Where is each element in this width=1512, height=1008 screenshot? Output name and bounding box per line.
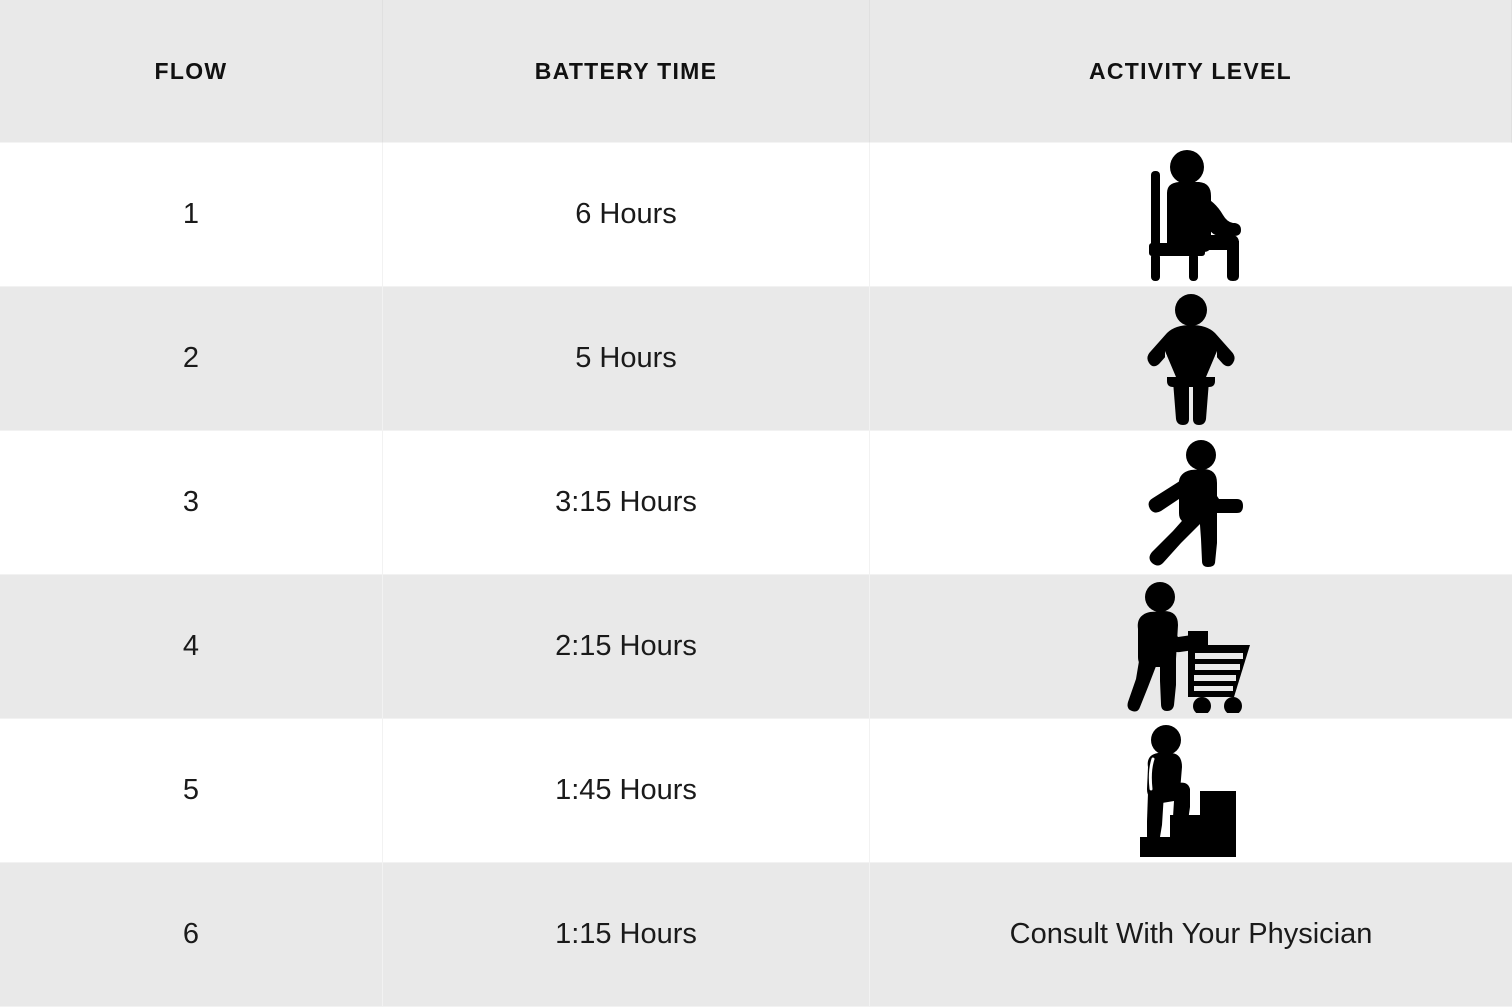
cell-battery-time: 1:15 Hours (383, 863, 870, 1007)
person-sitting-on-chair-icon (1126, 149, 1256, 281)
flow-value: 3 (183, 486, 199, 519)
cell-flow: 6 (0, 863, 383, 1007)
battery-time-value: 2:15 Hours (555, 630, 697, 663)
battery-time-value: 6 Hours (575, 198, 677, 231)
cell-flow: 2 (0, 287, 383, 431)
battery-time-value: 1:15 Hours (555, 918, 697, 951)
person-pushing-shopping-cart-icon (1126, 581, 1256, 713)
battery-time-value: 5 Hours (575, 342, 677, 375)
table-row: 2 5 Hours (0, 287, 1512, 431)
cell-activity-level (870, 575, 1512, 719)
cell-battery-time: 1:45 Hours (383, 719, 870, 863)
battery-time-value: 1:45 Hours (555, 774, 697, 807)
column-header-battery-time: BATTERY TIME (383, 0, 870, 143)
cell-activity-level (870, 143, 1512, 287)
cell-flow: 4 (0, 575, 383, 719)
table-row: 4 2:15 Hours (0, 575, 1512, 719)
table-row: 6 1:15 Hours Consult With Your Physician (0, 863, 1512, 1007)
activity-level-note: Consult With Your Physician (1010, 918, 1373, 951)
column-header-flow-label: FLOW (155, 58, 228, 85)
cell-battery-time: 2:15 Hours (383, 575, 870, 719)
cell-activity-level (870, 431, 1512, 575)
person-walking-icon (1126, 437, 1256, 569)
cell-battery-time: 6 Hours (383, 143, 870, 287)
table-row: 5 1:45 Hours (0, 719, 1512, 863)
flow-value: 6 (183, 918, 199, 951)
cell-activity-level: Consult With Your Physician (870, 863, 1512, 1007)
cell-activity-level (870, 719, 1512, 863)
person-climbing-stairs-icon (1126, 725, 1256, 857)
person-standing-hands-on-hips-icon (1126, 293, 1256, 425)
cell-flow: 5 (0, 719, 383, 863)
flow-value: 4 (183, 630, 199, 663)
table-row: 3 3:15 Hours (0, 431, 1512, 575)
flow-value: 1 (183, 198, 199, 231)
table-header-row: FLOW BATTERY TIME ACTIVITY LEVEL (0, 0, 1512, 143)
flow-value: 5 (183, 774, 199, 807)
cell-activity-level (870, 287, 1512, 431)
flow-battery-activity-table: FLOW BATTERY TIME ACTIVITY LEVEL 1 6 Hou… (0, 0, 1512, 1008)
cell-flow: 1 (0, 143, 383, 287)
flow-value: 2 (183, 342, 199, 375)
table-row: 1 6 Hours (0, 143, 1512, 287)
cell-battery-time: 3:15 Hours (383, 431, 870, 575)
battery-time-value: 3:15 Hours (555, 486, 697, 519)
column-header-activity-level: ACTIVITY LEVEL (870, 0, 1512, 143)
column-header-flow: FLOW (0, 0, 383, 143)
column-header-activity-level-label: ACTIVITY LEVEL (1089, 58, 1292, 85)
column-header-battery-time-label: BATTERY TIME (535, 58, 718, 85)
cell-battery-time: 5 Hours (383, 287, 870, 431)
cell-flow: 3 (0, 431, 383, 575)
